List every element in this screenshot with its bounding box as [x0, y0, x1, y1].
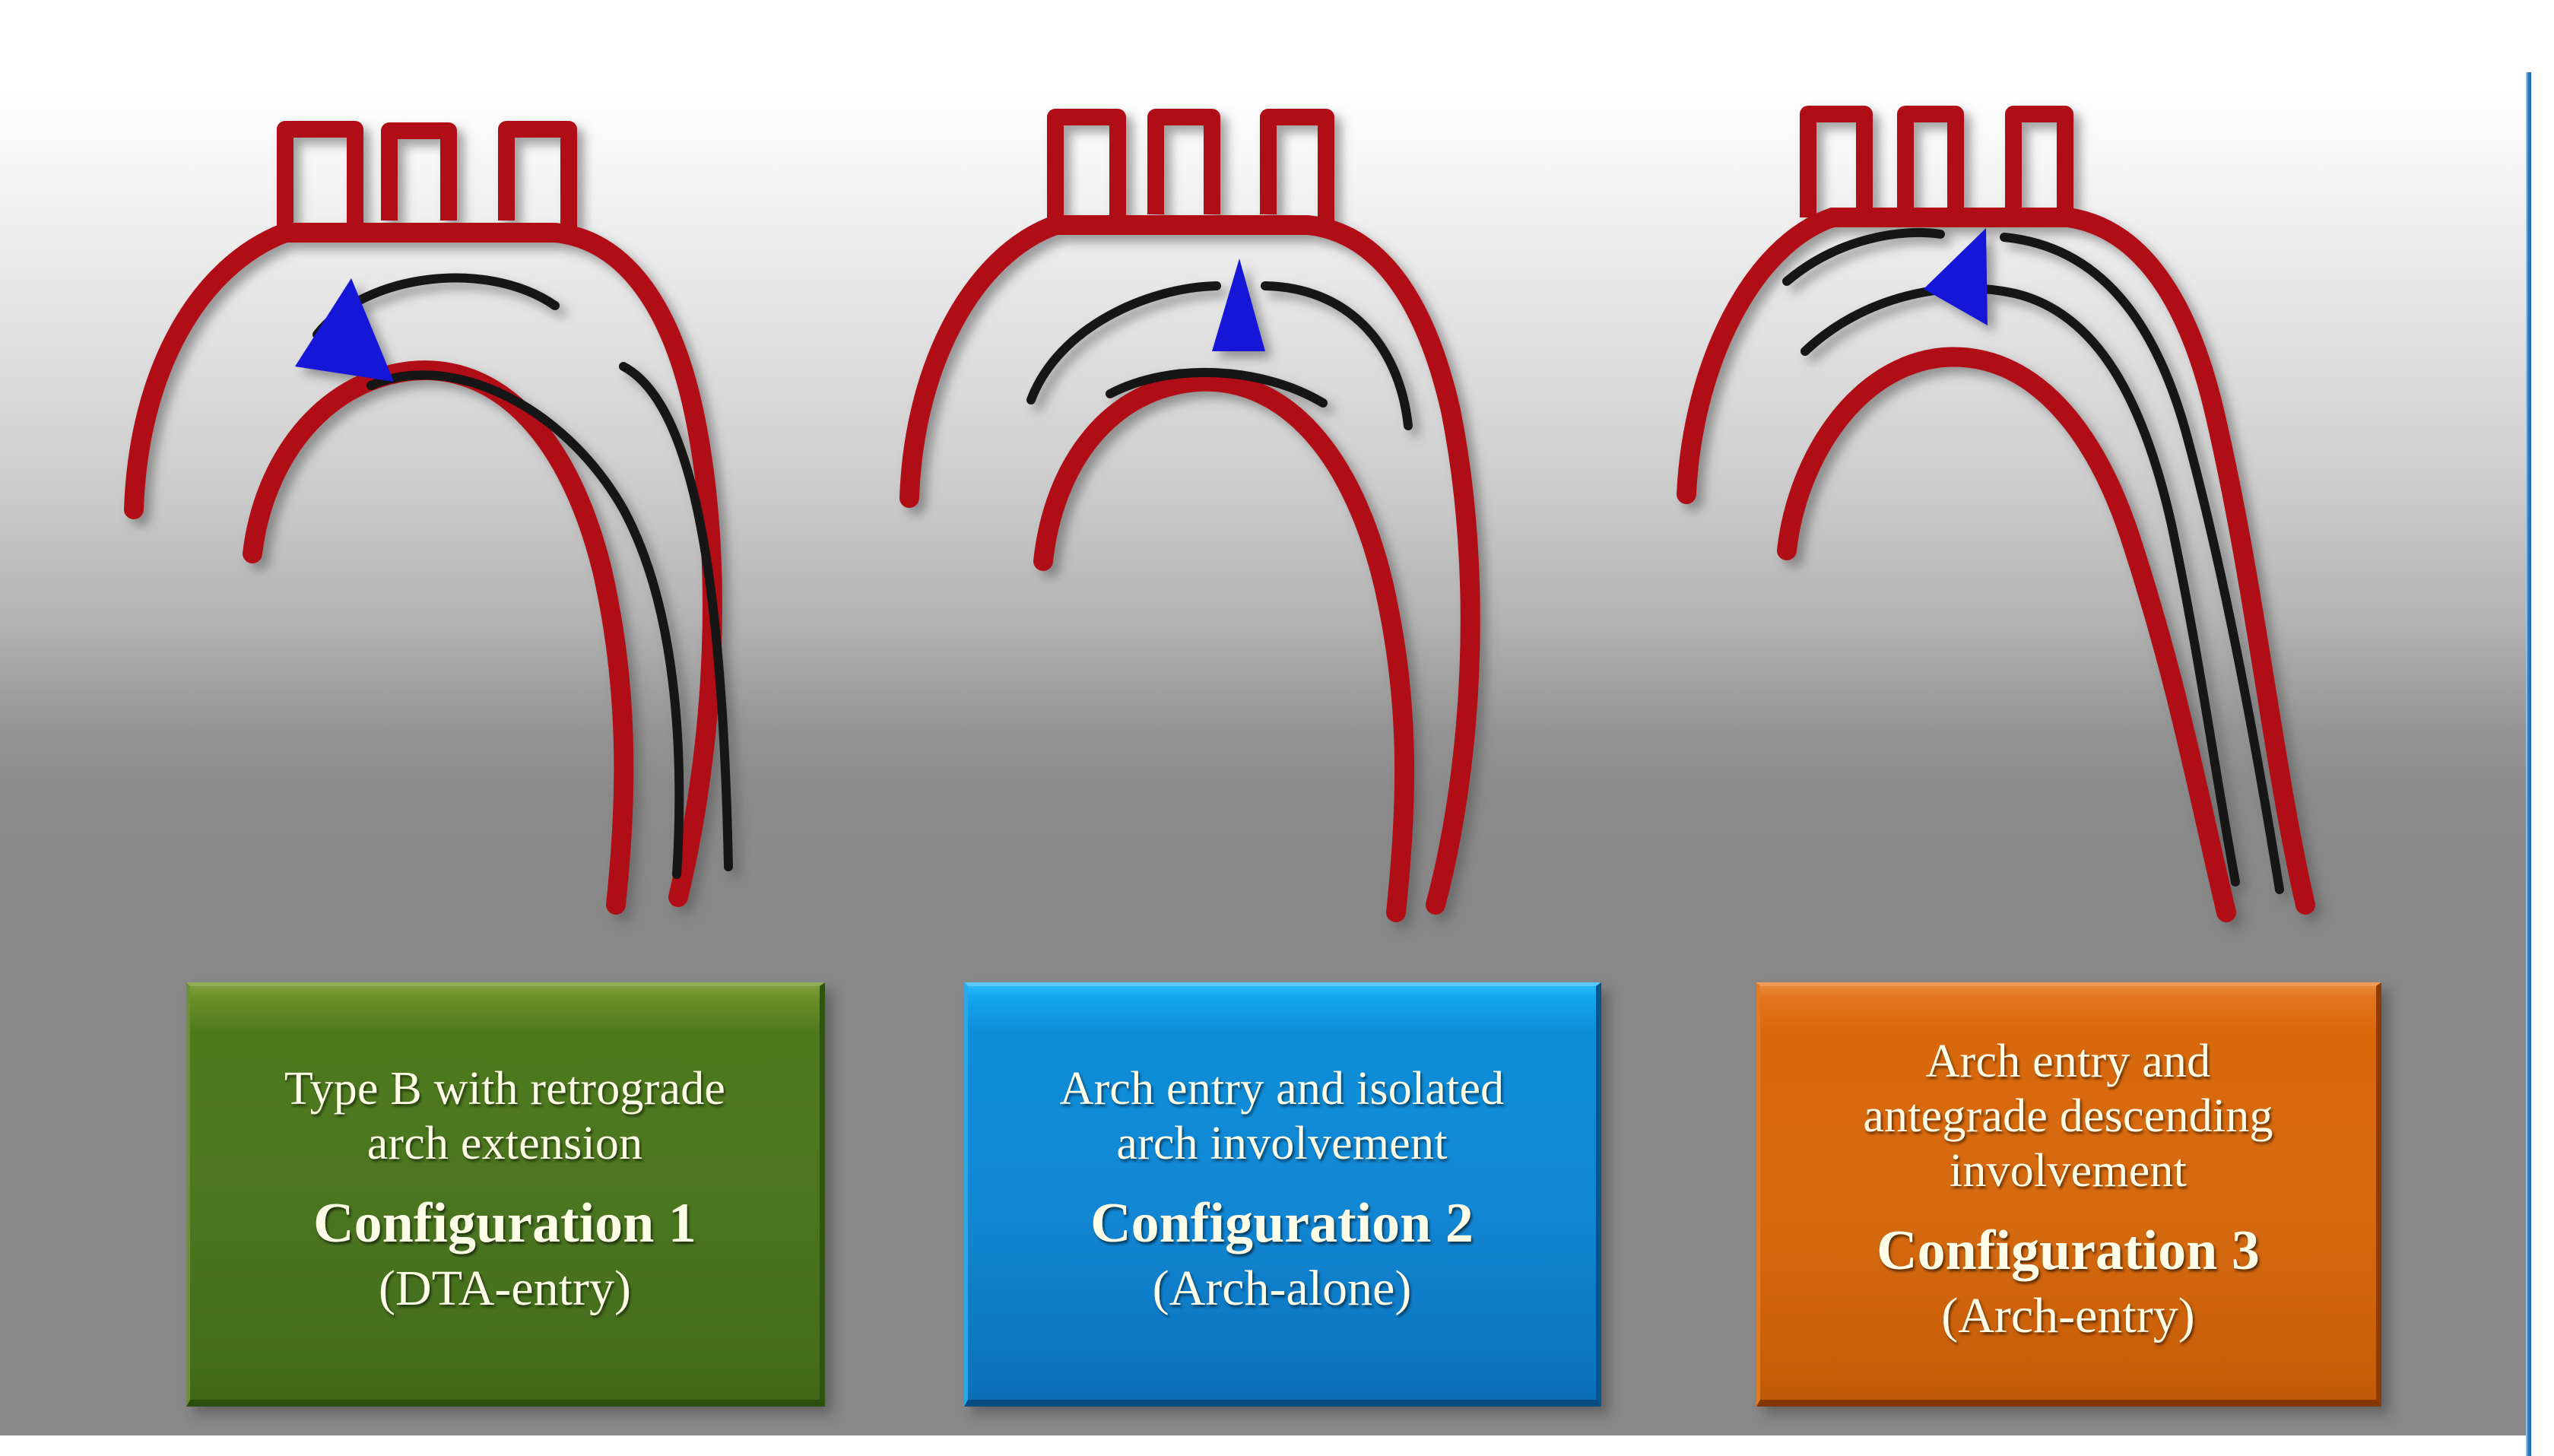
arch-branch-vessels	[1808, 114, 2065, 217]
left-subclavian-artery	[506, 129, 569, 233]
label-box-configuration-3[interactable]: Arch entry and antegrade descending invo…	[1756, 982, 2381, 1407]
config-3-alias: (Arch-entry)	[1941, 1287, 2194, 1346]
dissection-flap-upper	[1787, 233, 1940, 281]
config-1-desc-line-2: arch extension	[367, 1117, 643, 1172]
config-3-desc-line-1: Arch entry and	[1926, 1035, 2211, 1090]
entry-tear-arrow-icon	[1924, 228, 1988, 325]
label-box-configuration-2[interactable]: Arch entry and isolated arch involvement…	[964, 982, 1601, 1407]
figure-canvas: Type B with retrograde arch extension Co…	[0, 0, 2554, 1456]
config-1-title: Configuration 1	[313, 1191, 696, 1257]
config-3-desc-line-2: antegrade descending	[1863, 1090, 2273, 1144]
config-2-title: Configuration 2	[1090, 1191, 1474, 1257]
innominate-artery	[285, 129, 355, 233]
aorta-outer-wall	[1686, 217, 2305, 905]
left-subclavian-artery	[1268, 117, 1326, 225]
config-2-alias: (Arch-alone)	[1153, 1260, 1412, 1318]
config-1-desc-line-1: Type B with retrograde	[284, 1062, 725, 1117]
left-common-carotid-artery	[1156, 117, 1212, 214]
aorta-inner-wall	[1787, 357, 2226, 912]
aorta-diagram-configuration-3	[1673, 84, 2433, 981]
innominate-artery	[1808, 114, 1864, 217]
innominate-artery	[1055, 117, 1118, 225]
left-common-carotid-artery	[1905, 114, 1956, 208]
aorta-diagram-configuration-1	[91, 84, 852, 981]
left-common-carotid-artery	[389, 131, 449, 220]
left-subclavian-artery	[2013, 114, 2065, 217]
label-box-configuration-1[interactable]: Type B with retrograde arch extension Co…	[186, 982, 825, 1407]
config-1-alias: (DTA-entry)	[379, 1260, 631, 1318]
aorta-inner-wall	[1043, 382, 1404, 912]
config-2-desc-line-1: Arch entry and isolated	[1060, 1062, 1505, 1117]
right-border-rule	[2526, 72, 2531, 1456]
aorta-inner-wall	[252, 370, 623, 905]
arch-branch-vessels	[1055, 117, 1326, 225]
config-3-title: Configuration 3	[1877, 1219, 2260, 1284]
config-2-desc-line-2: arch involvement	[1116, 1117, 1447, 1172]
arch-branch-vessels	[285, 129, 569, 233]
entry-tear-arrow-icon	[1212, 259, 1265, 351]
config-3-desc-line-3: involvement	[1950, 1144, 2187, 1199]
aorta-diagram-configuration-2	[867, 84, 1627, 981]
